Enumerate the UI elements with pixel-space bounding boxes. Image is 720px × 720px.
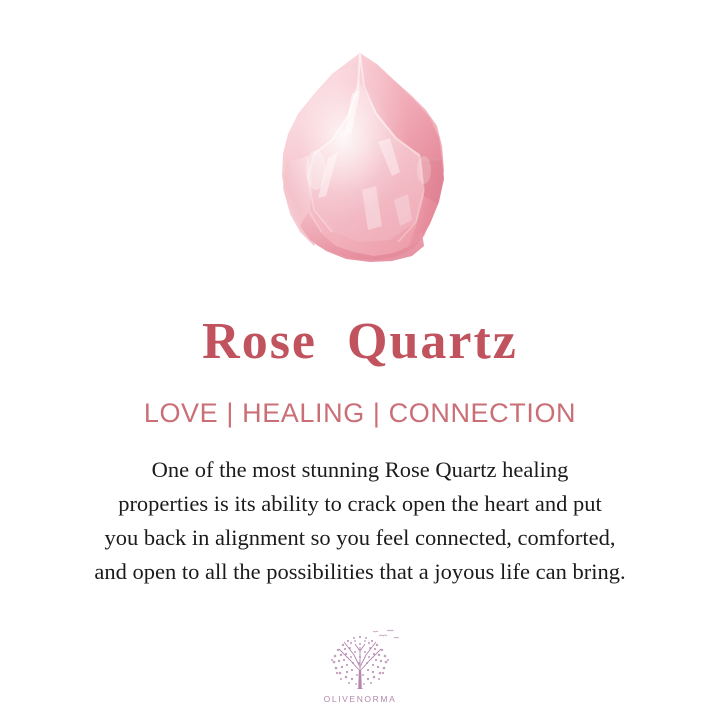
description-line-4: and open to all the possibilities that a…	[28, 555, 692, 589]
crystal-glow	[288, 68, 420, 232]
rose-quartz-crystal-image	[274, 50, 454, 268]
hero-image-container	[0, 0, 720, 268]
page-title: Rose Quartz	[202, 316, 518, 368]
description-line-1: One of the most stunning Rose Quartz hea…	[28, 453, 692, 487]
birds-icon	[373, 630, 399, 638]
tree-icon	[317, 627, 403, 693]
description-line-2: properties is its ability to crack open …	[28, 487, 692, 521]
brand-name: OLIVENORMA	[324, 694, 397, 704]
brand-logo: OLIVENORMA	[0, 627, 720, 704]
rose-quartz-info-card: Rose Quartz LOVE | HEALING | CONNECTION …	[0, 0, 720, 720]
subtitle-keywords: LOVE | HEALING | CONNECTION	[144, 400, 576, 427]
description-paragraph: One of the most stunning Rose Quartz hea…	[28, 453, 692, 589]
description-line-3: you back in alignment so you feel connec…	[28, 521, 692, 555]
